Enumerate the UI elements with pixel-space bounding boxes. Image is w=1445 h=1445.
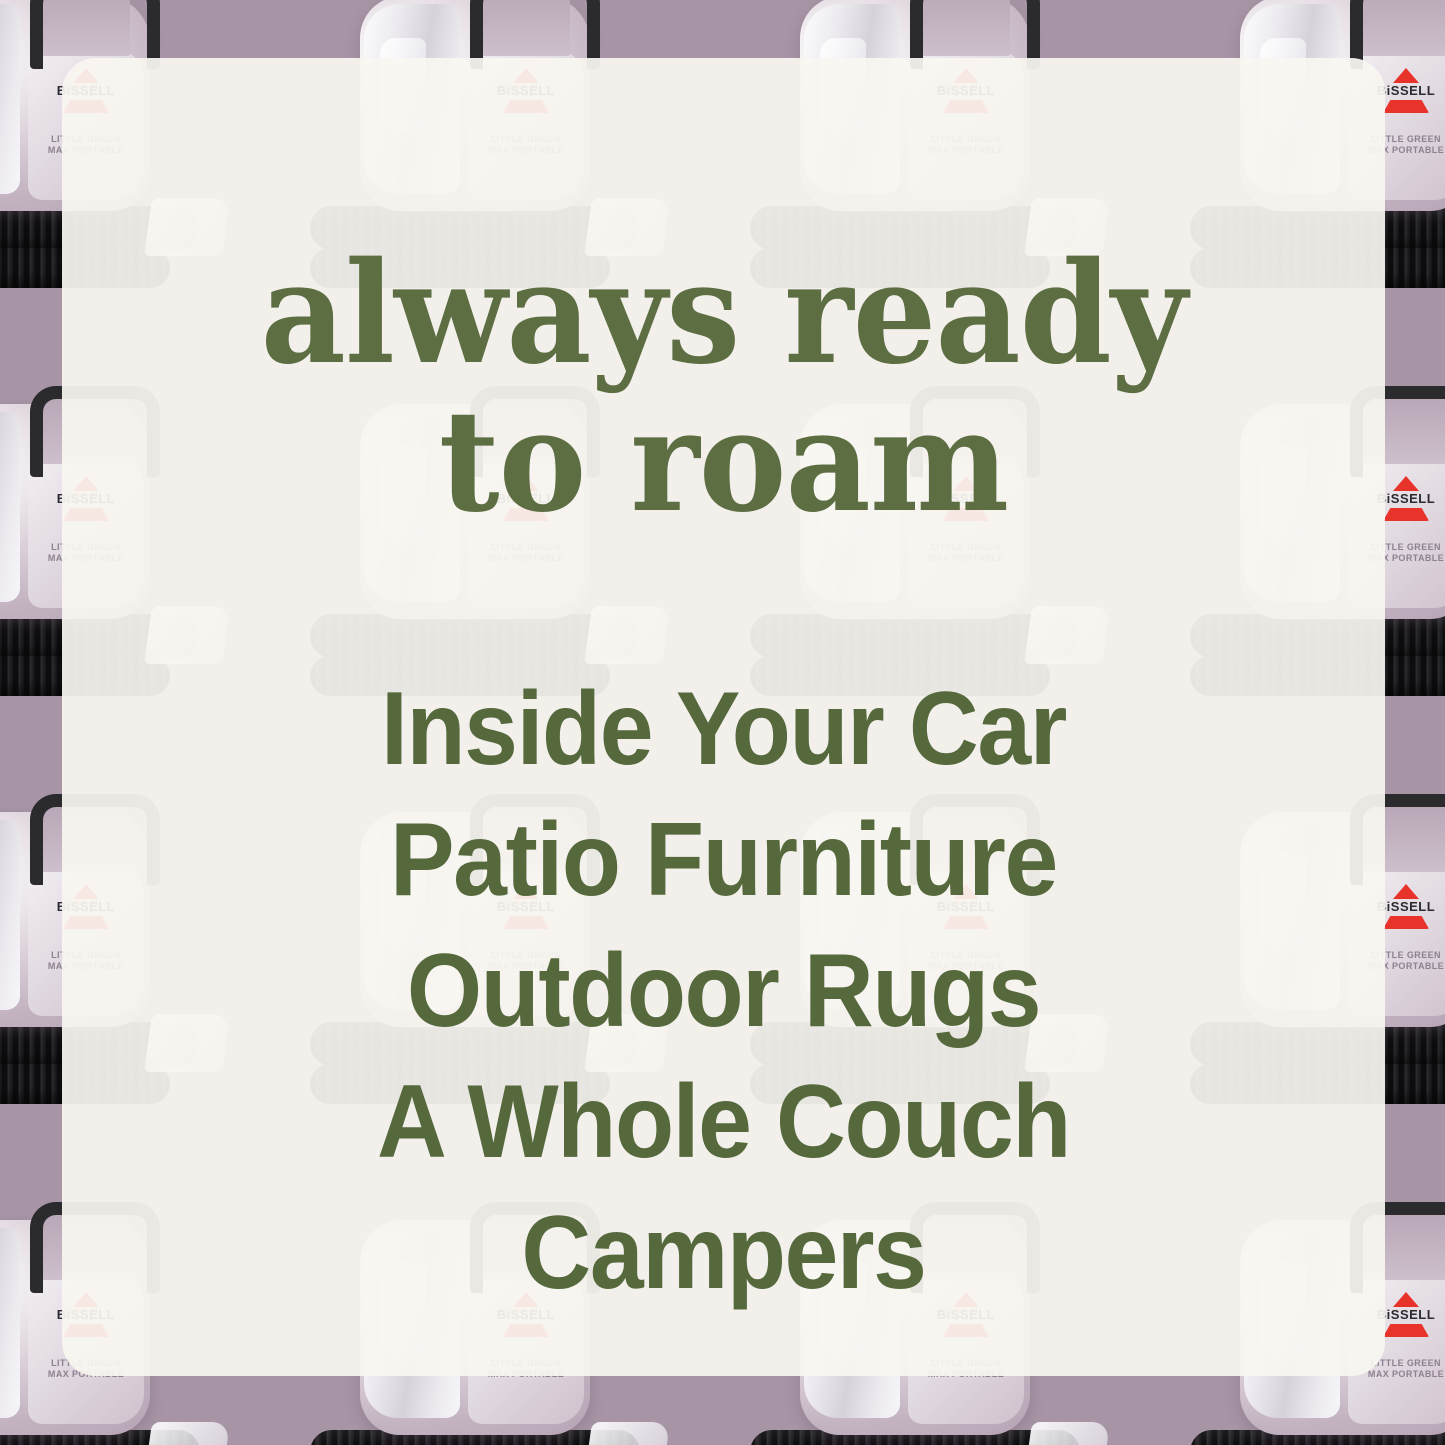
vacuum-nozzle-icon xyxy=(144,1422,230,1445)
list-item: Campers xyxy=(108,1188,1338,1319)
list-item: A Whole Couch xyxy=(108,1057,1338,1188)
vacuum-tank-icon xyxy=(0,1228,20,1418)
vacuum-tank-icon xyxy=(0,820,20,1010)
list-item: Outdoor Rugs xyxy=(108,926,1338,1057)
vacuum-tank-icon xyxy=(0,4,20,194)
logo-bar-icon xyxy=(1383,916,1429,929)
headline-line-1: always ready xyxy=(102,240,1346,388)
use-case-list: Inside Your Car Patio Furniture Outdoor … xyxy=(108,664,1338,1319)
logo-triangle-icon xyxy=(1393,1292,1419,1307)
logo-triangle-icon xyxy=(1393,476,1419,491)
headline-line-2: to roam xyxy=(102,388,1346,536)
logo-triangle-icon xyxy=(1393,68,1419,83)
content-area: always ready to roam Inside Your Car Pat… xyxy=(62,58,1385,1376)
logo-bar-icon xyxy=(1383,1324,1429,1337)
logo-bar-icon xyxy=(1383,100,1429,113)
list-item: Patio Furniture xyxy=(108,795,1338,926)
logo-triangle-icon xyxy=(1393,884,1419,899)
list-item: Inside Your Car xyxy=(108,664,1338,795)
vacuum-nozzle-icon xyxy=(1024,1422,1110,1445)
vacuum-nozzle-icon xyxy=(584,1422,670,1445)
logo-bar-icon xyxy=(1383,508,1429,521)
page-title: always ready to roam xyxy=(102,240,1346,536)
promo-graphic: BiSSELLLITTLE GREEN MAX PORTABLEBiSSELLL… xyxy=(0,0,1445,1445)
vacuum-tank-icon xyxy=(0,412,20,602)
